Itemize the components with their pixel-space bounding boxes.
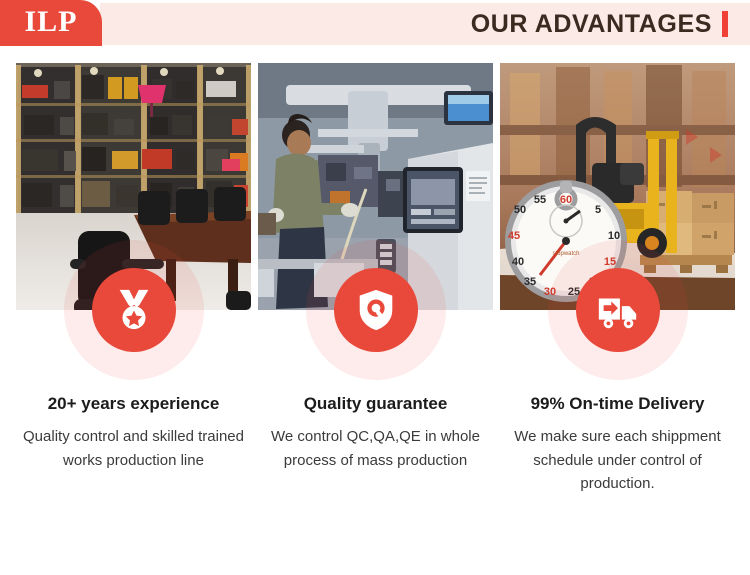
- card-badge-zone: [500, 310, 735, 388]
- card-badge-zone: [16, 310, 251, 388]
- advantage-card-list: 20+ years experience Quality control and…: [16, 63, 734, 495]
- card-description: We make sure each shippment schedule und…: [500, 425, 735, 495]
- advantages-section: ILP OUR ADVANTAGES: [0, 0, 750, 575]
- header-title-group: OUR ADVANTAGES: [471, 3, 728, 45]
- svg-text:40: 40: [512, 256, 524, 268]
- card-description: We control QC,QA,QE in whole process of …: [258, 425, 493, 472]
- card-title: 99% On-time Delivery: [500, 394, 735, 414]
- delivery-truck-icon: [595, 287, 641, 333]
- card-badge-zone: [258, 310, 493, 388]
- svg-text:50: 50: [514, 204, 526, 216]
- svg-text:60: 60: [560, 194, 572, 206]
- title-accent-bar-icon: [722, 11, 728, 37]
- svg-text:5: 5: [595, 204, 601, 216]
- svg-text:45: 45: [508, 230, 520, 242]
- page-header: ILP OUR ADVANTAGES: [0, 0, 750, 46]
- advantage-card: Quality guarantee We control QC,QA,QE in…: [258, 63, 493, 495]
- badge-circle[interactable]: [92, 268, 176, 352]
- advantage-card: 60 5 10 15 20 25 30 35 40 45 50 55: [500, 63, 735, 495]
- card-title: Quality guarantee: [258, 394, 493, 414]
- shield-q-icon: [353, 287, 399, 333]
- card-description: Quality control and skilled trained work…: [16, 425, 251, 472]
- badge-circle[interactable]: [334, 268, 418, 352]
- svg-text:55: 55: [534, 194, 546, 206]
- svg-text:35: 35: [524, 276, 536, 288]
- page-title: OUR ADVANTAGES: [471, 12, 712, 37]
- advantage-card: 20+ years experience Quality control and…: [16, 63, 251, 495]
- company-logo[interactable]: ILP: [0, 0, 102, 46]
- logo-text: ILP: [24, 7, 77, 39]
- medal-star-icon: [111, 287, 157, 333]
- card-title: 20+ years experience: [16, 394, 251, 414]
- badge-circle[interactable]: [576, 268, 660, 352]
